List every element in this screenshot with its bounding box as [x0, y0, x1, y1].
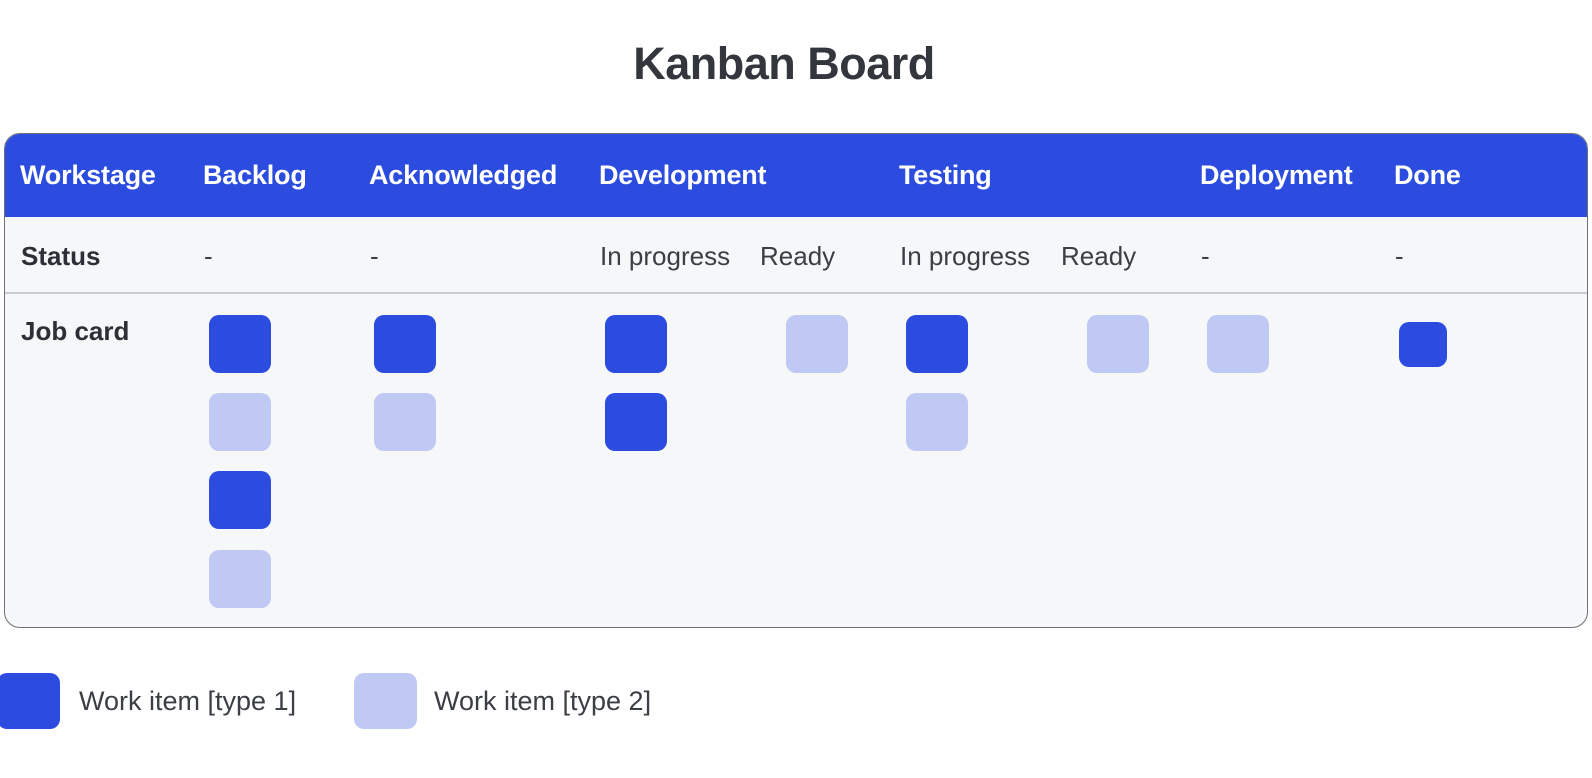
- legend: Work item [type 1]Work item [type 2]: [0, 670, 1592, 740]
- work-item-type1[interactable]: [906, 315, 968, 373]
- job-card-row-label: Job card: [21, 316, 129, 347]
- work-item-type1[interactable]: [605, 393, 667, 451]
- page-title: Kanban Board: [0, 38, 1568, 90]
- board-header-row: WorkstageBacklogAcknowledgedDevelopmentT…: [4, 133, 1588, 217]
- legend-swatch-type2: [354, 673, 417, 729]
- legend-label-type1: Work item [type 1]: [79, 673, 296, 729]
- job-card-row: Job card: [5, 294, 1588, 627]
- work-item-type2[interactable]: [209, 550, 271, 608]
- column-header-acknowledged[interactable]: Acknowledged: [369, 133, 557, 217]
- status-cell: Ready: [760, 218, 835, 294]
- column-header-workstage[interactable]: Workstage: [20, 133, 156, 217]
- work-item-type2[interactable]: [374, 393, 436, 451]
- work-item-type1[interactable]: [209, 315, 271, 373]
- work-item-type2[interactable]: [1087, 315, 1149, 373]
- work-item-type1[interactable]: [374, 315, 436, 373]
- column-header-deployment[interactable]: Deployment: [1200, 133, 1353, 217]
- status-row-label: Status: [21, 218, 100, 294]
- column-header-backlog[interactable]: Backlog: [203, 133, 307, 217]
- work-item-type1[interactable]: [1399, 322, 1447, 367]
- legend-label-type2: Work item [type 2]: [434, 673, 651, 729]
- status-cell: -: [204, 218, 213, 294]
- status-cell: In progress: [600, 218, 730, 294]
- status-cell: -: [1395, 218, 1404, 294]
- column-header-done[interactable]: Done: [1394, 133, 1461, 217]
- work-item-type2[interactable]: [1207, 315, 1269, 373]
- legend-swatch-type1: [0, 673, 60, 729]
- work-item-type1[interactable]: [209, 471, 271, 529]
- status-row: Status--In progressReadyIn progressReady…: [5, 218, 1588, 294]
- kanban-board: WorkstageBacklogAcknowledgedDevelopmentT…: [4, 133, 1588, 628]
- status-cell: -: [370, 218, 379, 294]
- work-item-type2[interactable]: [906, 393, 968, 451]
- work-item-type2[interactable]: [209, 393, 271, 451]
- status-cell: Ready: [1061, 218, 1136, 294]
- work-item-type1[interactable]: [605, 315, 667, 373]
- status-cell: In progress: [900, 218, 1030, 294]
- status-cell: -: [1201, 218, 1210, 294]
- column-header-testing[interactable]: Testing: [899, 133, 992, 217]
- column-header-development[interactable]: Development: [599, 133, 766, 217]
- work-item-type2[interactable]: [786, 315, 848, 373]
